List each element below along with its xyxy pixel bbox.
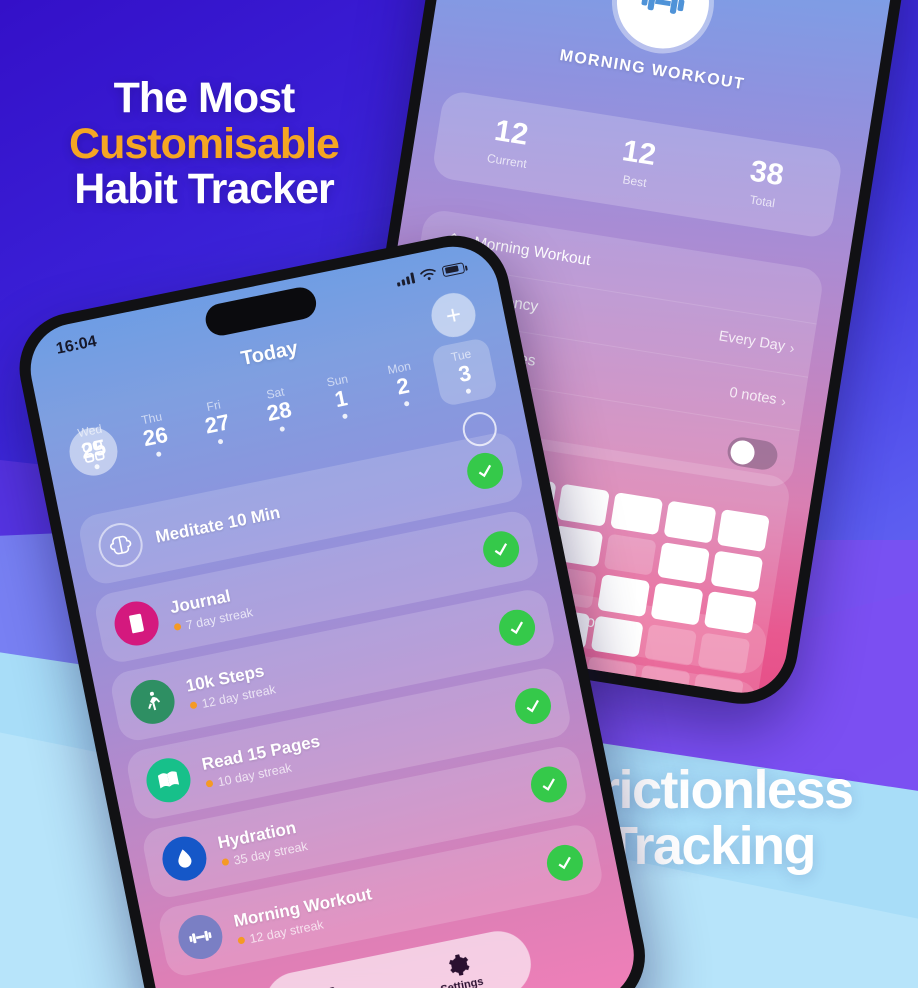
chevron-right-icon: › bbox=[789, 339, 796, 356]
date-cell-sat[interactable]: Sat28 bbox=[245, 375, 313, 445]
date-dot bbox=[342, 414, 348, 420]
habit-complete-button[interactable] bbox=[512, 685, 554, 727]
heatmap-cell bbox=[557, 484, 610, 527]
stat-best: 12 Best bbox=[570, 129, 706, 199]
habit-complete-button[interactable] bbox=[480, 528, 522, 570]
book-open-icon bbox=[143, 754, 195, 806]
date-dot bbox=[404, 401, 410, 407]
flame-icon bbox=[221, 858, 229, 866]
check-icon bbox=[475, 460, 496, 481]
plus-icon: + bbox=[443, 301, 463, 330]
habit-list: Meditate 10 MinJournal7 day streak10k St… bbox=[76, 430, 607, 988]
headline: The Most Customisable Habit Tracker bbox=[44, 76, 364, 213]
brain-icon bbox=[95, 519, 147, 571]
heatmap-cell bbox=[604, 533, 657, 576]
habit-complete-button[interactable] bbox=[464, 450, 506, 492]
battery-icon bbox=[441, 262, 465, 277]
check-icon bbox=[538, 774, 559, 795]
check-icon bbox=[506, 617, 527, 638]
gear-icon bbox=[444, 951, 472, 979]
flame-icon bbox=[237, 936, 245, 944]
date-cell-thu[interactable]: Thu26 bbox=[121, 400, 189, 470]
stat-current: 12 Current bbox=[442, 108, 578, 178]
heatmap-cell bbox=[657, 542, 710, 585]
heatmap-cell bbox=[664, 501, 717, 544]
habit-avatar bbox=[610, 0, 715, 55]
book-closed-icon bbox=[111, 598, 163, 650]
page-title: Today bbox=[239, 337, 300, 371]
flame-icon bbox=[205, 780, 213, 788]
date-dot bbox=[156, 451, 162, 457]
stat-total: 38 Total bbox=[697, 149, 833, 219]
heatmap-cell bbox=[717, 509, 770, 552]
check-icon bbox=[491, 539, 512, 560]
dumbbell-icon bbox=[174, 911, 226, 963]
settings-row-frequency-value: Every Day › bbox=[718, 328, 796, 356]
flame-icon bbox=[189, 701, 197, 709]
toggle-knob bbox=[728, 438, 755, 465]
check-icon bbox=[554, 852, 575, 873]
daily-notes-value-text: 0 notes bbox=[728, 384, 777, 407]
tab-settings-label: Settings bbox=[439, 975, 484, 988]
flame-icon bbox=[173, 623, 181, 631]
tab-stats[interactable] bbox=[312, 983, 341, 988]
date-dot bbox=[465, 388, 471, 394]
date-dot bbox=[280, 426, 286, 432]
habit-complete-button[interactable] bbox=[528, 763, 570, 805]
habit-stats: 12 Current 12 Best 38 Total bbox=[431, 89, 844, 239]
date-cell-fri[interactable]: Fri27 bbox=[183, 387, 251, 457]
signal-icon bbox=[395, 272, 415, 286]
status-indicators bbox=[395, 261, 465, 287]
date-dot bbox=[218, 439, 224, 445]
bar-chart-icon bbox=[312, 983, 340, 988]
date-dot bbox=[94, 464, 100, 470]
check-icon bbox=[522, 695, 543, 716]
wifi-icon bbox=[419, 266, 438, 282]
status-time: 16:04 bbox=[55, 333, 99, 359]
date-cell-tue[interactable]: Tue3 bbox=[430, 337, 498, 407]
walking-icon bbox=[127, 676, 179, 728]
tab-settings[interactable]: Settings bbox=[434, 949, 484, 988]
heatmap-cell bbox=[610, 492, 663, 535]
date-cell-mon[interactable]: Mon2 bbox=[369, 350, 437, 420]
add-habit-button[interactable]: + bbox=[428, 289, 480, 341]
date-cell-sun[interactable]: Sun1 bbox=[307, 362, 375, 432]
date-cell-wed[interactable]: Wed25 bbox=[59, 412, 127, 482]
habit-complete-button[interactable] bbox=[544, 842, 586, 884]
chevron-right-icon: › bbox=[780, 393, 787, 410]
headline-line-3: Habit Tracker bbox=[44, 167, 364, 213]
heatmap-cell bbox=[710, 550, 763, 593]
headline-line-1: The Most bbox=[44, 76, 364, 122]
settings-row-daily-notes-value: 0 notes › bbox=[728, 384, 787, 409]
frequency-value-text: Every Day bbox=[718, 328, 787, 354]
habit-complete-button[interactable] bbox=[496, 606, 538, 648]
water-drop-icon bbox=[158, 833, 210, 885]
reminder-toggle[interactable] bbox=[726, 435, 780, 471]
headline-accent-word: Customisable bbox=[44, 122, 364, 168]
dumbbell-icon bbox=[637, 0, 690, 29]
